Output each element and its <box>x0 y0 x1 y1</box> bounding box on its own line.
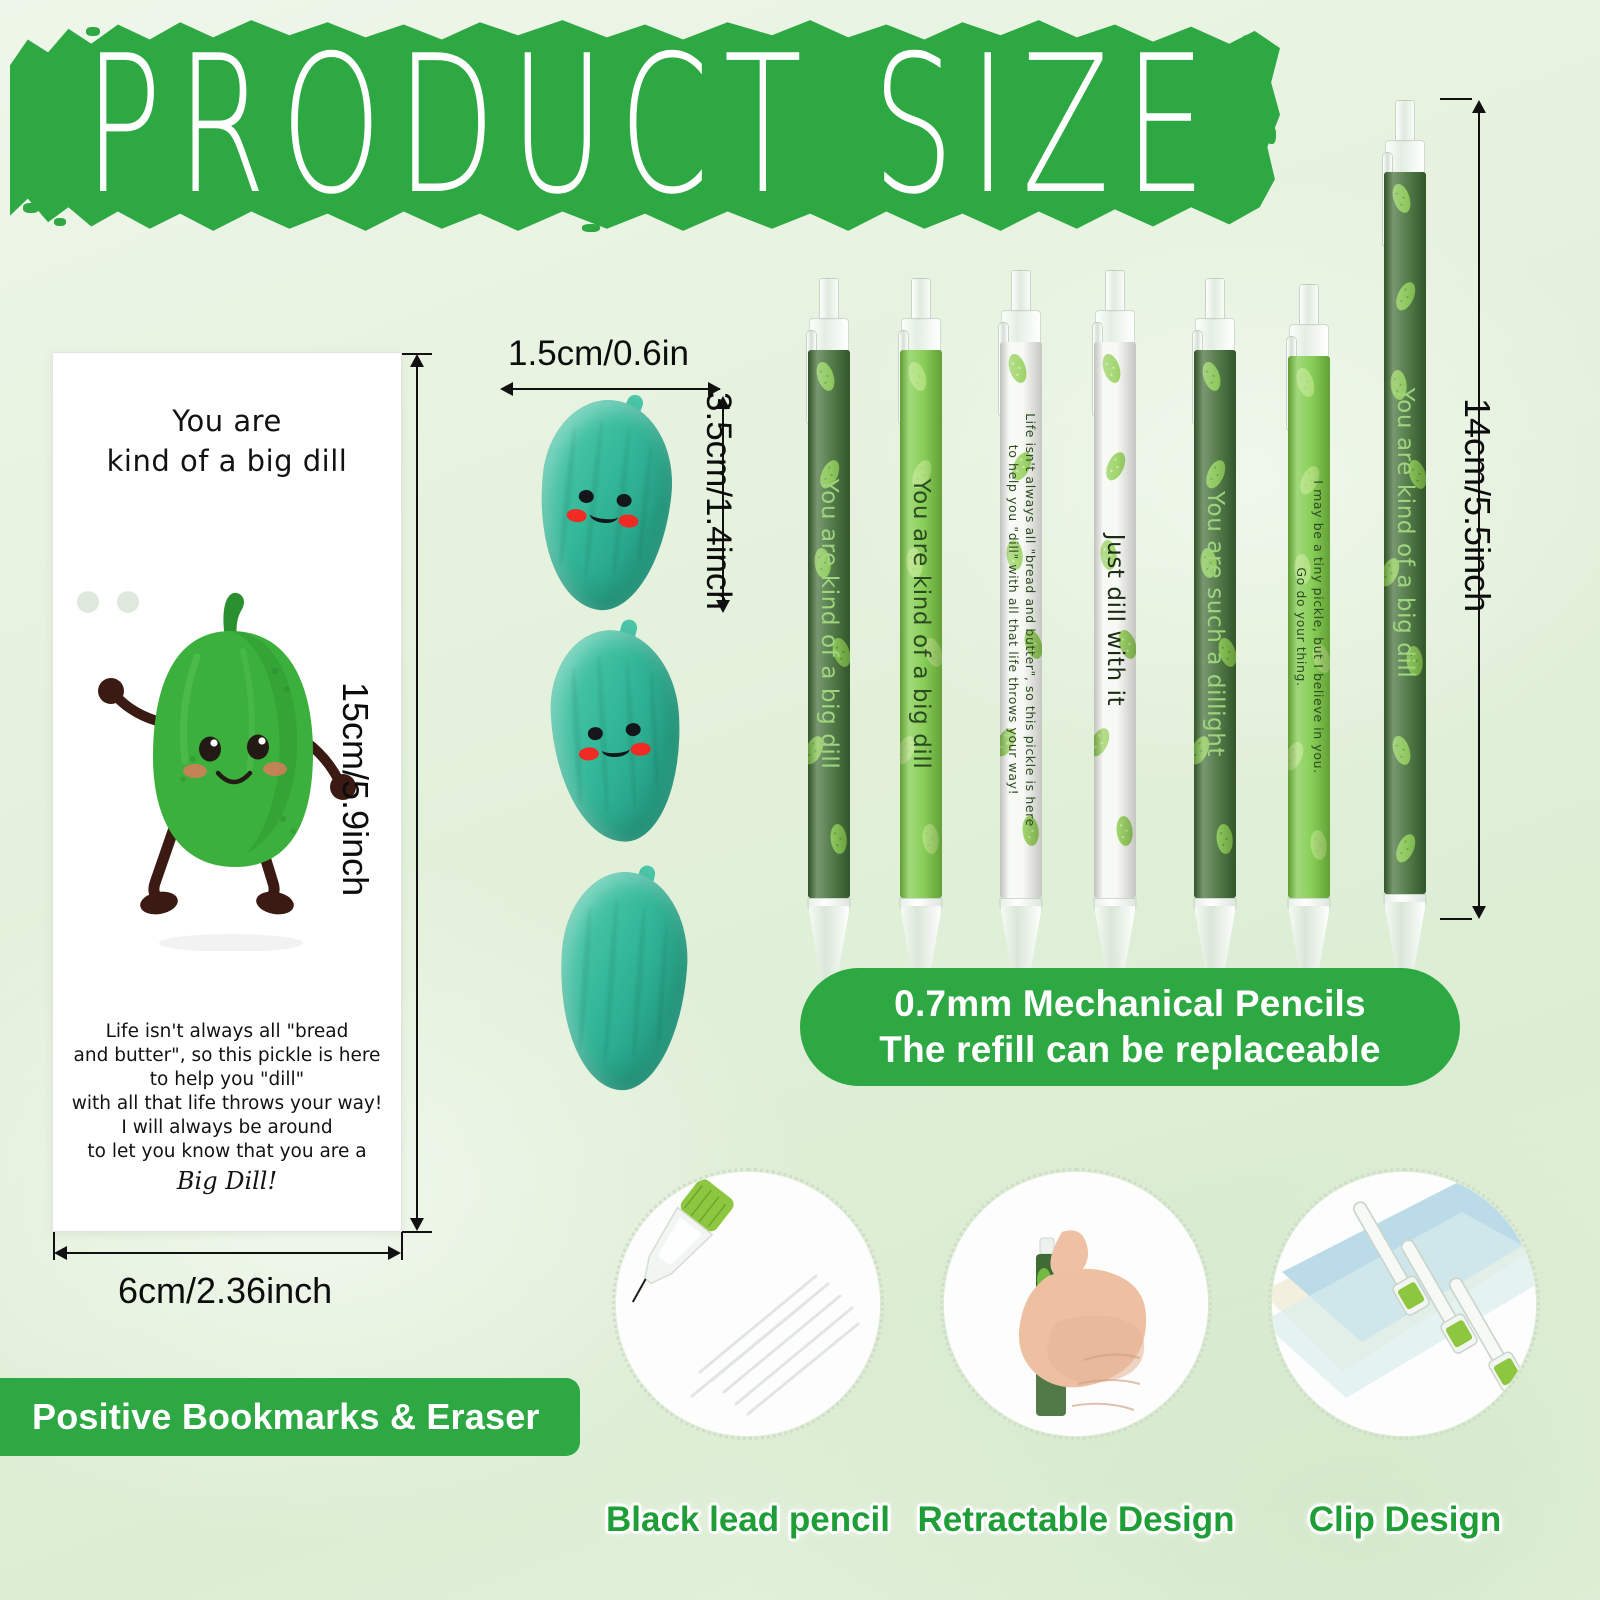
bookmark-title-line2: kind of a big dill <box>107 444 348 478</box>
pencil-collar <box>808 898 851 907</box>
pencil-push-button <box>1299 284 1319 326</box>
header-banner: PRODUCT SIZE <box>10 18 1280 233</box>
dot-icon <box>77 591 99 613</box>
pencil-barrel: I may be a tiny pickle, but I believe in… <box>1288 356 1330 898</box>
pencil-push-button <box>1105 270 1125 312</box>
pencil-push-button <box>819 278 839 320</box>
eraser-body <box>553 868 694 1094</box>
hand-holding-pencil-icon: dillight <box>944 1172 1208 1436</box>
mechanical-pencil: You are kind of a big dill <box>892 278 950 936</box>
bookmark-width-label: 6cm/2.36inch <box>118 1270 332 1312</box>
bookmark-title: You are kind of a big dill <box>53 401 401 481</box>
pencil-barrel: You are such a dillight <box>1194 350 1236 898</box>
pencil-spec-line1: 0.7mm Mechanical Pencils <box>894 981 1366 1027</box>
pencil-collar <box>1288 898 1331 907</box>
pencil-collar <box>1194 898 1237 907</box>
pencil-slogan: You are such a dillight <box>1202 491 1228 757</box>
bookmark-title-line1: You are <box>172 404 282 438</box>
pencil-push-button <box>1205 278 1225 320</box>
feature-label-1: Black lead pencil <box>588 1500 908 1540</box>
pencil-slogan: Life isn't always all "bread and butter"… <box>1004 413 1038 827</box>
mechanical-pencil: You are kind of a big dill <box>800 278 858 936</box>
bookmark-height-label: 15cm/5.9inch <box>334 682 376 896</box>
pencil-barrel: Just dill with it <box>1094 342 1136 898</box>
pencil-barrel: You are kind of a big dill <box>808 350 850 898</box>
pencil-slogan: I may be a tiny pickle, but I believe in… <box>1292 480 1326 773</box>
bookmark-poem: Life isn't always all "breadand butter",… <box>53 1020 401 1197</box>
eraser-width-label: 1.5cm/0.6in <box>508 334 689 374</box>
bookmark-signature: Big Dill! <box>67 1166 387 1197</box>
pickle-character-illustration <box>97 531 365 951</box>
product-size-infographic: PRODUCT SIZE You are kind of a big dill <box>0 0 1600 1600</box>
mechanical-pencil: Life isn't always all "bread and butter"… <box>992 270 1050 936</box>
pickle-eraser <box>529 394 680 616</box>
pencil-push-button <box>911 278 931 320</box>
pencil-slogan: You are kind of a big dill <box>908 479 934 770</box>
pencil-collar <box>1000 898 1043 907</box>
bookmark-banner: Positive Bookmarks & Eraser <box>0 1378 580 1456</box>
bookmark-poem-text: Life isn't always all "breadand butter",… <box>72 1021 383 1162</box>
mechanical-pencil: You are kind of a big dill <box>1376 100 1434 932</box>
pencil-height-label: 14cm/5.5inch <box>1456 398 1498 612</box>
eraser-height-label: 3.5cm/1.4inch <box>698 392 738 610</box>
pencil-collar <box>900 898 943 907</box>
pencil-slogan: You are kind of a big dill <box>1392 388 1418 679</box>
pencil-spec-line2: The refill can be replaceable <box>879 1027 1380 1073</box>
pencil-writing-icon <box>616 1172 880 1436</box>
pencil-slogan: Just dill with it <box>1102 534 1128 706</box>
pencil-clip-notebook-icon <box>1272 1172 1536 1436</box>
pencil-collar <box>1384 894 1427 903</box>
page-title: PRODUCT SIZE <box>54 0 1235 274</box>
feature-label-3: Clip Design <box>1280 1500 1530 1540</box>
pencil-barrel: Life isn't always all "bread and butter"… <box>1000 342 1042 898</box>
pencil-spec-banner: 0.7mm Mechanical Pencils The refill can … <box>800 968 1460 1086</box>
mechanical-pencil: You are such a dillight <box>1186 278 1244 936</box>
pencil-push-button <box>1395 100 1415 142</box>
pencil-slogan: You are kind of a big dill <box>816 479 842 770</box>
mechanical-pencil: I may be a tiny pickle, but I believe in… <box>1280 284 1338 936</box>
pickle-eraser <box>553 868 694 1094</box>
feature-label-2: Retractable Design <box>906 1500 1246 1540</box>
pencil-collar <box>1094 898 1137 907</box>
bookmark-banner-label: Positive Bookmarks & Eraser <box>32 1396 540 1438</box>
pencil-push-button <box>1011 270 1031 312</box>
eraser-face <box>529 394 680 616</box>
eraser-face <box>547 627 686 845</box>
pickle-eraser <box>547 627 686 845</box>
pencil-barrel: You are kind of a big dill <box>1384 172 1426 894</box>
pencil-barrel: You are kind of a big dill <box>900 350 942 898</box>
mechanical-pencil: Just dill with it <box>1086 270 1144 936</box>
